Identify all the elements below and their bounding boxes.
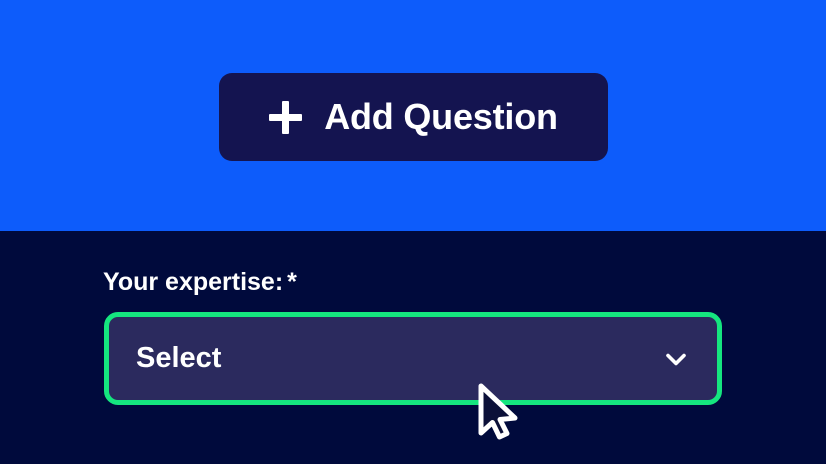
expertise-select[interactable]: Select [104,312,722,405]
plus-icon [269,101,302,134]
add-question-button[interactable]: Add Question [219,73,608,161]
expertise-label-text: Your expertise: [103,268,283,296]
expertise-select-value: Select [136,344,663,373]
app-screen: Add Question Your expertise:* Select [0,0,826,464]
required-asterisk: * [287,268,297,296]
expertise-field-label: Your expertise:* [103,267,297,297]
chevron-down-icon[interactable] [663,346,689,372]
add-question-button-label: Add Question [324,99,558,135]
